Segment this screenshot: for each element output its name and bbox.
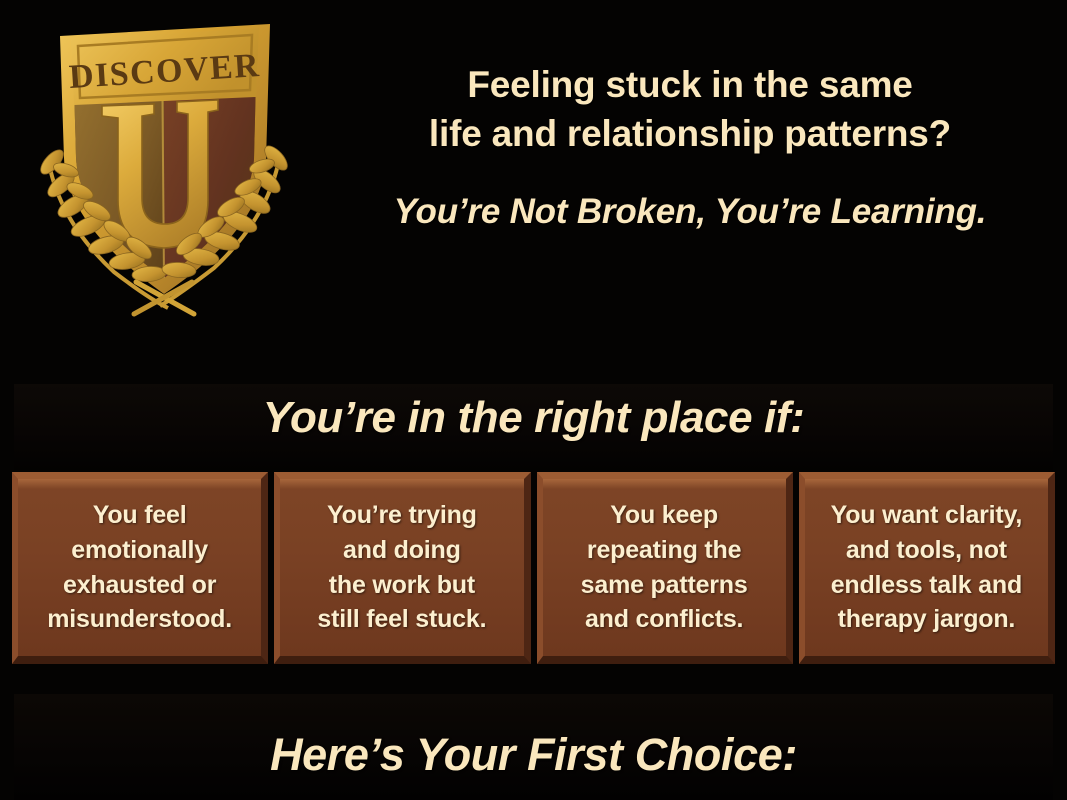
- card-repeating-patterns[interactable]: You keep repeating the same patterns and…: [537, 472, 793, 664]
- card-emotionally-exhausted[interactable]: You feel emotionally exhausted or misund…: [12, 472, 268, 664]
- card-text: You keep repeating the same patterns and…: [575, 498, 754, 637]
- headline-line-2: life and relationship patterns?: [330, 109, 1050, 158]
- card-text: You want clarity, and tools, not endless…: [825, 498, 1029, 637]
- card-text: You’re trying and doing the work but sti…: [311, 498, 492, 637]
- headline-line-1: Feeling stuck in the same: [330, 60, 1050, 109]
- slide-canvas: DISCOVER: [0, 0, 1067, 800]
- qualifier-section-heading: You’re in the right place if:: [0, 393, 1067, 443]
- card-trying-but-stuck[interactable]: You’re trying and doing the work but sti…: [274, 472, 530, 664]
- qualifier-card-row: You feel emotionally exhausted or misund…: [12, 472, 1055, 664]
- card-want-clarity-tools[interactable]: You want clarity, and tools, not endless…: [799, 472, 1055, 664]
- discover-u-shield-logo: DISCOVER: [18, 10, 308, 320]
- footer-heading: Here’s Your First Choice:: [0, 729, 1067, 781]
- card-text: You feel emotionally exhausted or misund…: [41, 498, 238, 637]
- header-text-block: Feeling stuck in the same life and relat…: [330, 60, 1050, 234]
- headline: Feeling stuck in the same life and relat…: [330, 60, 1050, 158]
- subheadline: You’re Not Broken, You’re Learning.: [330, 190, 1050, 234]
